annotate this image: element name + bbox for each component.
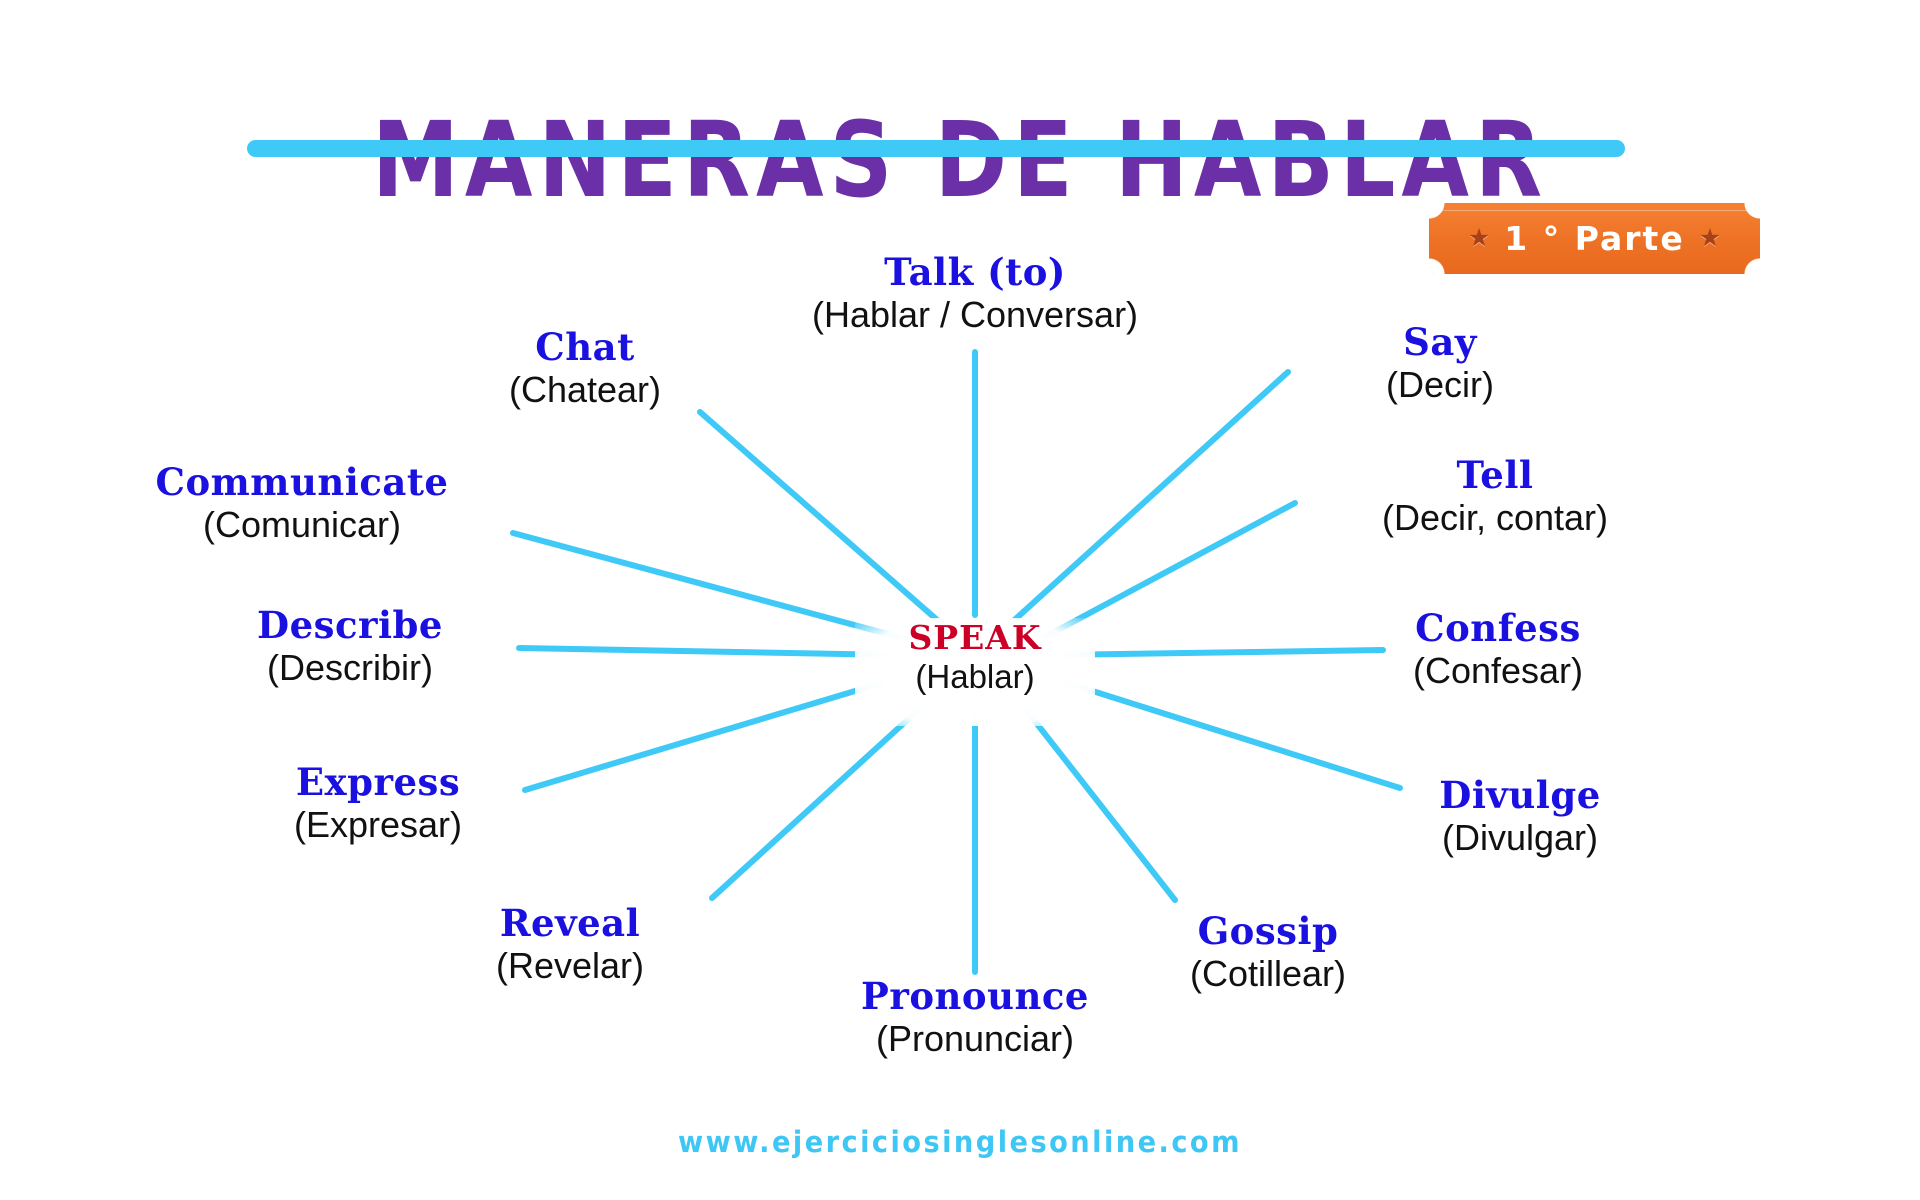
node-tell-english: Tell	[1325, 455, 1665, 496]
node-gossip: Gossip (Cotillear)	[1118, 911, 1418, 996]
spoke-express	[525, 676, 905, 790]
node-chat-spanish: (Chatear)	[425, 368, 745, 411]
node-divulge-english: Divulge	[1370, 775, 1670, 816]
node-say-english: Say	[1305, 322, 1575, 363]
node-confess-spanish: (Confesar)	[1338, 649, 1658, 692]
part-badge: ★ 1 ° Parte ★	[1429, 203, 1760, 274]
spoke-say	[1010, 372, 1288, 624]
center-node-spanish: (Hablar)	[855, 656, 1095, 697]
footer-url[interactable]: www.ejerciciosinglesonline.com	[58, 1125, 1863, 1159]
node-reveal-spanish: (Revelar)	[420, 944, 720, 987]
node-tell: Tell (Decir, contar)	[1325, 455, 1665, 540]
title-underline-rule	[247, 140, 1625, 157]
node-reveal-english: Reveal	[420, 903, 720, 944]
node-describe-english: Describe	[190, 605, 510, 646]
spoke-communicate	[513, 533, 910, 640]
page-title: MANERAS DE HABLAR	[154, 106, 1767, 214]
node-describe: Describe (Describir)	[190, 605, 510, 690]
node-pronounce: Pronounce (Pronunciar)	[780, 976, 1170, 1061]
node-talk: Talk (to) (Hablar / Conversar)	[745, 252, 1205, 337]
center-node: SPEAK (Hablar)	[855, 618, 1095, 726]
star-icon-right: ★	[1699, 226, 1721, 251]
node-communicate-english: Communicate	[92, 462, 512, 503]
spoke-describe	[519, 648, 895, 655]
node-chat: Chat (Chatear)	[425, 327, 745, 412]
node-confess-english: Confess	[1338, 608, 1658, 649]
node-communicate-spanish: (Comunicar)	[92, 503, 512, 546]
center-node-english: SPEAK	[855, 620, 1095, 656]
node-talk-spanish: (Hablar / Conversar)	[745, 293, 1205, 336]
node-tell-spanish: (Decir, contar)	[1325, 496, 1665, 539]
part-badge-label: 1 ° Parte	[1504, 219, 1684, 258]
node-divulge-spanish: (Divulgar)	[1370, 816, 1670, 859]
node-express-english: Express	[218, 762, 538, 803]
node-describe-spanish: (Describir)	[190, 646, 510, 689]
spoke-confess	[1055, 650, 1383, 655]
node-gossip-english: Gossip	[1118, 911, 1418, 952]
node-express: Express (Expresar)	[218, 762, 538, 847]
spoke-divulge	[1045, 676, 1400, 788]
node-chat-english: Chat	[425, 327, 745, 368]
node-reveal: Reveal (Revelar)	[420, 903, 720, 988]
node-say: Say (Decir)	[1305, 322, 1575, 407]
node-say-spanish: (Decir)	[1305, 363, 1575, 406]
node-pronounce-english: Pronounce	[780, 976, 1170, 1017]
node-confess: Confess (Confesar)	[1338, 608, 1658, 693]
node-express-spanish: (Expresar)	[218, 803, 538, 846]
node-pronounce-spanish: (Pronunciar)	[780, 1017, 1170, 1060]
node-talk-english: Talk (to)	[745, 252, 1205, 293]
node-divulge: Divulge (Divulgar)	[1370, 775, 1670, 860]
mind-map-page: MANERAS DE HABLAR ★ 1 ° Parte ★ SPEAK (H…	[0, 0, 1920, 1200]
node-communicate: Communicate (Comunicar)	[92, 462, 512, 547]
spoke-chat	[700, 412, 944, 626]
star-icon-left: ★	[1468, 226, 1490, 251]
node-gossip-spanish: (Cotillear)	[1118, 952, 1418, 995]
